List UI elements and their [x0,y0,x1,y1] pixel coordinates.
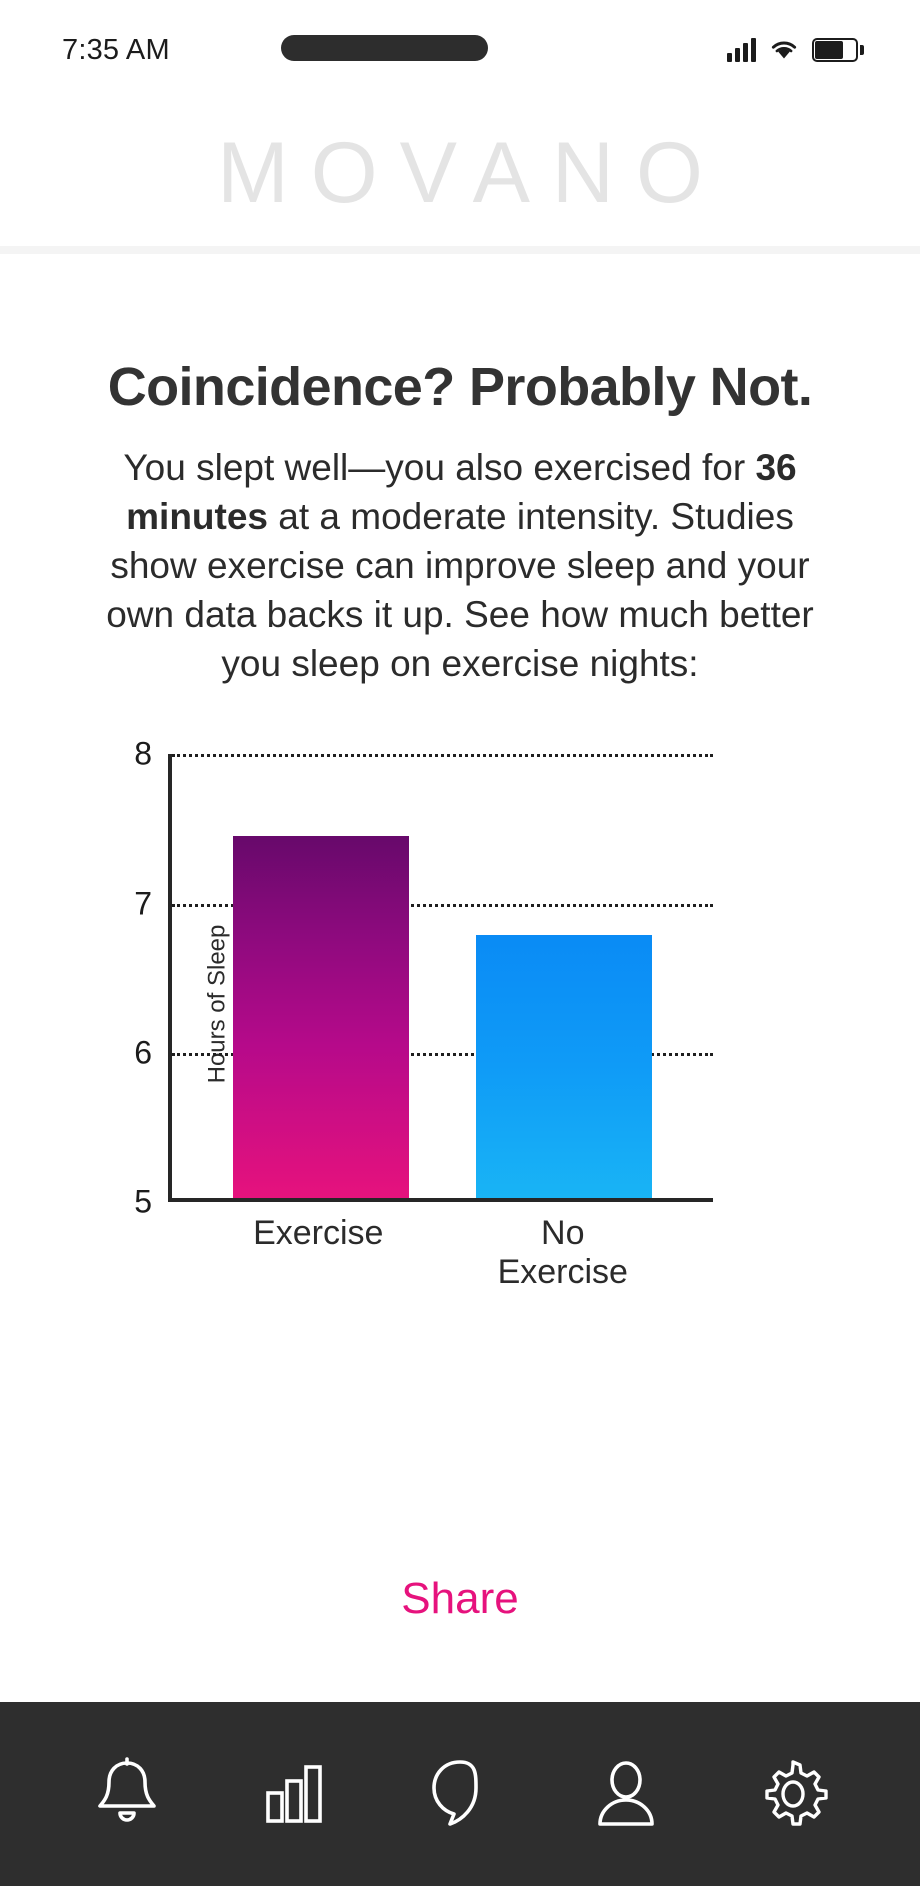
body-line-2: at a moderate intensity. [268,496,660,537]
body-line-5: backs it up. See how much [267,594,709,635]
chart-bar-column[interactable] [476,754,652,1198]
chart-bars [172,754,713,1198]
bell-icon [90,1755,164,1833]
brand-header: MOVANO [0,100,920,246]
nav-item-alerts[interactable] [72,1739,182,1849]
bar-chart-icon [262,1759,326,1829]
chart-x-labels: ExerciseNo Exercise [168,1214,713,1292]
share-button[interactable]: Share [401,1574,518,1624]
chart-x-label: Exercise [230,1214,406,1292]
person-icon [592,1758,660,1830]
chart-x-label: No Exercise [475,1214,651,1292]
wifi-icon [770,39,798,61]
body-line-1: You slept well—you also exercised for [123,447,745,488]
chart-plot-area [168,754,713,1202]
nav-item-trends[interactable] [239,1739,349,1849]
nav-item-profile[interactable] [571,1739,681,1849]
header-divider [0,246,920,254]
chart-y-tick: 7 [134,885,152,922]
chart-y-ticks: 8765 [80,744,168,1202]
chart-bar[interactable] [233,836,409,1199]
status-icons [727,38,858,62]
chat-bubble-icon [427,1756,493,1832]
movano-logo: MOVANO [195,130,725,216]
chart-y-tick: 6 [134,1035,152,1072]
battery-icon [812,38,858,62]
signal-icon [727,38,756,62]
chart-y-tick: 8 [134,736,152,773]
status-bar: 7:35 AM [0,0,920,100]
share-row: Share [0,1574,920,1624]
nav-item-settings[interactable] [738,1739,848,1849]
main-content: Coincidence? Probably Not. You slept wel… [0,254,920,1702]
gear-icon [757,1758,829,1830]
nav-item-messages[interactable] [405,1739,515,1849]
status-time: 7:35 AM [62,34,170,67]
chart-y-tick: 5 [134,1184,152,1221]
chart-bar-column[interactable] [233,754,409,1198]
bottom-navigation [0,1702,920,1886]
sleep-exercise-chart: Hours of Sleep 8765 ExerciseNo Exercise [80,744,840,1264]
chart-bar[interactable] [476,935,652,1198]
notch-pill [281,35,488,61]
insight-body: You slept well—you also exercised for 36… [0,443,920,688]
page-title: Coincidence? Probably Not. [0,358,920,417]
